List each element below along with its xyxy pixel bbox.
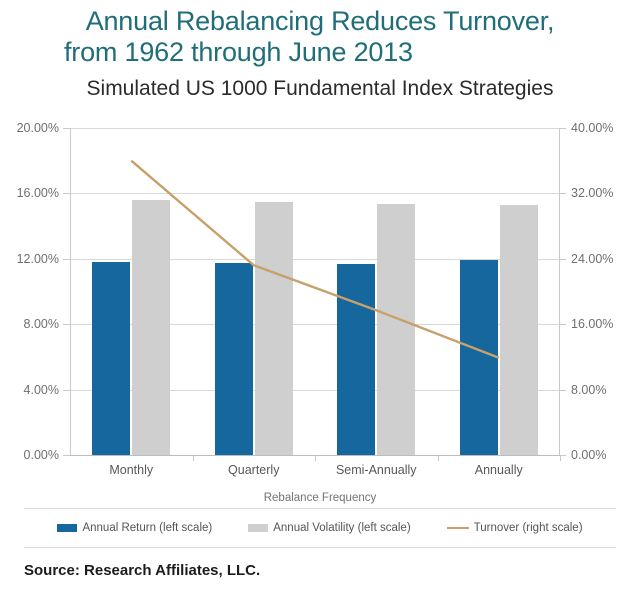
chart-legend: Annual Return (left scale) Annual Volati… <box>0 522 640 534</box>
legend-swatch-annual-return <box>57 524 77 532</box>
chart-subtitle: Simulated US 1000 Fundamental Index Stra… <box>0 77 640 101</box>
legend-swatch-annual-volatility <box>248 524 268 532</box>
legend-item-turnover[interactable]: Turnover (right scale) <box>447 522 583 534</box>
legend-label-annual-volatility: Annual Volatility (left scale) <box>273 522 410 534</box>
chart-canvas: 20.00%40.00%16.00%32.00%12.00%24.00%8.00… <box>0 112 640 472</box>
title-block: Annual Rebalancing Reduces Turnover, fro… <box>0 6 640 101</box>
legend-divider-top <box>24 508 616 509</box>
x-axis-title: Rebalance Frequency <box>0 492 640 504</box>
page-title: Annual Rebalancing Reduces Turnover, fro… <box>0 6 640 68</box>
legend-swatch-turnover <box>447 527 469 529</box>
turnover-line-layer <box>0 112 640 472</box>
title-line-2: from 1962 through June 2013 <box>28 37 612 68</box>
legend-label-turnover: Turnover (right scale) <box>474 522 583 534</box>
title-line-1: Annual Rebalancing Reduces Turnover, <box>28 6 612 37</box>
legend-item-annual-volatility[interactable]: Annual Volatility (left scale) <box>248 522 410 534</box>
legend-label-annual-return: Annual Return (left scale) <box>82 522 212 534</box>
source-note: Source: Research Affiliates, LLC. <box>24 562 260 579</box>
turnover-line <box>131 161 499 358</box>
legend-item-annual-return[interactable]: Annual Return (left scale) <box>57 522 212 534</box>
legend-divider-bottom <box>24 547 616 548</box>
